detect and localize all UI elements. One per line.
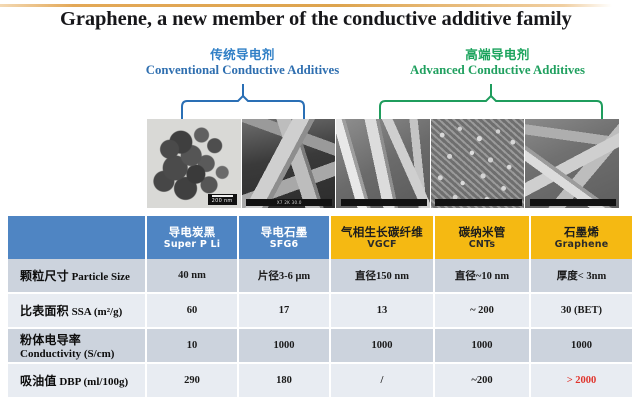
category-advanced: 高端导电剂 Advanced Conductive Additives — [375, 48, 620, 78]
table-row: 比表面积 SSA (m²/g) 60 17 13 ~ 200 30 (BET) — [8, 293, 632, 328]
table-row: 颗粒尺寸 Particle Size 40 nm 片径3-6 μm 直径150 … — [8, 259, 632, 293]
micrograph-vgcf-scalebar — [341, 199, 427, 206]
cell-conductivity-super-p-li: 10 — [146, 328, 238, 363]
cell-dbp-super-p-li: 290 — [146, 363, 238, 398]
comparison-table: 导电炭黑 Super P Li 导电石墨 SFG6 气相生长碳纤维 VGCF 碳… — [8, 216, 632, 399]
cell-particle-size-cnts: 直径~10 nm — [434, 259, 530, 293]
micrograph-cnts-image — [431, 119, 525, 208]
cell-dbp-cnts: ~200 — [434, 363, 530, 398]
micrograph-cnts-scalebar — [435, 199, 521, 206]
cell-conductivity-vgcf: 1000 — [330, 328, 434, 363]
table-header-cnts: 碳纳米管 CNTs — [434, 216, 530, 259]
row-label-particle-size: 颗粒尺寸 Particle Size — [8, 259, 146, 293]
cell-dbp-vgcf: / — [330, 363, 434, 398]
micrograph-graphene-image — [525, 119, 619, 208]
cell-ssa-vgcf: 13 — [330, 293, 434, 328]
micrograph-sfg6-image — [242, 119, 336, 208]
micrograph-vgcf-image — [336, 119, 430, 208]
cell-conductivity-sfg6: 1000 — [238, 328, 330, 363]
bracket-advanced — [378, 84, 604, 120]
category-conventional-label-cn: 传统导电剂 — [135, 48, 350, 62]
page-title: Graphene, a new member of the conductive… — [60, 8, 575, 32]
cell-ssa-graphene: 30 (BET) — [530, 293, 632, 328]
table-header-row: 导电炭黑 Super P Li 导电石墨 SFG6 气相生长碳纤维 VGCF 碳… — [8, 216, 632, 259]
table-header-sfg6: 导电石墨 SFG6 — [238, 216, 330, 259]
cell-ssa-cnts: ~ 200 — [434, 293, 530, 328]
cell-ssa-sfg6: 17 — [238, 293, 330, 328]
row-label-ssa: 比表面积 SSA (m²/g) — [8, 293, 146, 328]
micrograph-graphene-scalebar — [530, 199, 616, 206]
cell-conductivity-graphene: 1000 — [530, 328, 632, 363]
category-advanced-label-cn: 高端导电剂 — [375, 48, 620, 62]
micrograph-vgcf — [336, 119, 430, 208]
bracket-conventional — [180, 84, 306, 120]
micrograph-graphene — [525, 119, 619, 208]
cell-conductivity-cnts: 1000 — [434, 328, 530, 363]
row-label-dbp: 吸油值 DBP (ml/100g) — [8, 363, 146, 398]
slide-canvas: Graphene, a new member of the conductive… — [0, 0, 640, 400]
cell-particle-size-graphene: 厚度< 3nm — [530, 259, 632, 293]
row-label-conductivity: 粉体电导率 Conductivity (S/cm) — [8, 328, 146, 363]
cell-ssa-super-p-li: 60 — [146, 293, 238, 328]
micrograph-strip: 200 nm X7 2K 30.0 — [147, 119, 619, 208]
table-header-graphene: 石墨烯 Graphene — [530, 216, 632, 259]
micrograph-super-p-li: 200 nm — [147, 119, 241, 208]
table-row: 吸油值 DBP (ml/100g) 290 180 / ~200 > 2000 — [8, 363, 632, 398]
micrograph-super-p-li-scalebar: 200 nm — [208, 194, 237, 205]
top-accent-rule — [0, 4, 612, 7]
micrograph-sfg6: X7 2K 30.0 — [242, 119, 336, 208]
cell-particle-size-vgcf: 直径150 nm — [330, 259, 434, 293]
table-header-super-p-li: 导电炭黑 Super P Li — [146, 216, 238, 259]
table-header-vgcf: 气相生长碳纤维 VGCF — [330, 216, 434, 259]
category-conventional-label-en: Conventional Conductive Additives — [135, 63, 350, 78]
table-header-property — [8, 216, 146, 259]
cell-dbp-sfg6: 180 — [238, 363, 330, 398]
micrograph-sfg6-scalebar: X7 2K 30.0 — [246, 199, 332, 206]
cell-dbp-graphene: > 2000 — [530, 363, 632, 398]
table-row: 粉体电导率 Conductivity (S/cm) 10 1000 1000 1… — [8, 328, 632, 363]
category-conventional: 传统导电剂 Conventional Conductive Additives — [135, 48, 350, 78]
micrograph-cnts — [431, 119, 525, 208]
cell-particle-size-super-p-li: 40 nm — [146, 259, 238, 293]
category-advanced-label-en: Advanced Conductive Additives — [375, 63, 620, 78]
cell-particle-size-sfg6: 片径3-6 μm — [238, 259, 330, 293]
